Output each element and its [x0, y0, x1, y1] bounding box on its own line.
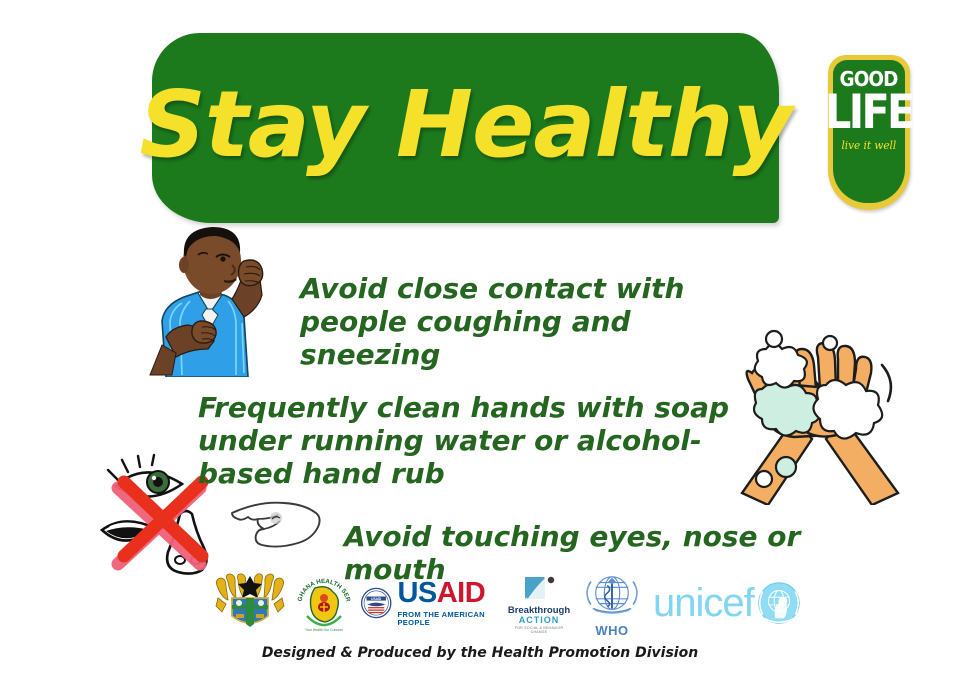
- pointing-hand-illustration: [228, 487, 324, 559]
- partner-logos-row: GHANA HEALTH SER Your Health Our Concern…: [212, 570, 772, 636]
- who-emblem-icon: [576, 572, 648, 618]
- handwashing-illustration: [722, 327, 920, 505]
- message-clean-hands: Frequently clean hands with soap under r…: [198, 391, 748, 490]
- good-life-word-life: LIFE: [825, 91, 913, 134]
- unicef-logo: unicef: [653, 577, 813, 629]
- ghana-health-service-logo: GHANA HEALTH SER Your Health Our Concern: [293, 572, 355, 634]
- usaid-word-aid: AID: [437, 577, 485, 609]
- unicef-wordmark: unicef: [653, 583, 754, 623]
- message-avoid-close-contact: Avoid close contact with people coughing…: [300, 272, 740, 371]
- usaid-subtitle: FROM THE AMERICAN PEOPLE: [397, 611, 502, 626]
- good-life-logo-body: GOOD LIFE live it well: [833, 60, 905, 203]
- ghana-coat-of-arms-logo: [212, 572, 288, 634]
- breakthrough-tagline: FOR SOCIAL & BEHAVIOR CHANGE: [507, 627, 571, 635]
- good-life-logo: GOOD LIFE live it well: [828, 55, 910, 210]
- good-life-tagline: live it well: [842, 139, 897, 152]
- header-banner: Stay Healthy: [152, 33, 779, 223]
- who-logo: WHO: [576, 572, 648, 634]
- ghs-tagline: Your Health Our Concern: [305, 628, 343, 632]
- breakthrough-action-logo: Breakthrough ACTION FOR SOCIAL & BEHAVIO…: [507, 575, 571, 631]
- footer-credit: Designed & Produced by the Health Promot…: [0, 645, 960, 661]
- usaid-word-us: US: [397, 577, 436, 609]
- usaid-seal-icon: USAID: [360, 584, 392, 622]
- coughing-man-illustration: [132, 217, 282, 377]
- usaid-logo: USAID USAID FROM THE AMERICAN PEOPLE: [360, 580, 502, 626]
- svg-text:USAID: USAID: [371, 597, 382, 601]
- page-title: Stay Healthy: [152, 33, 779, 223]
- unicef-emblem-icon: [754, 578, 804, 628]
- stay-healthy-poster: Stay Healthy GOOD LIFE live it well: [0, 0, 960, 676]
- who-label: WHO: [576, 623, 648, 638]
- action-word: ACTION: [507, 616, 571, 625]
- breakthrough-mark-icon: [507, 575, 571, 601]
